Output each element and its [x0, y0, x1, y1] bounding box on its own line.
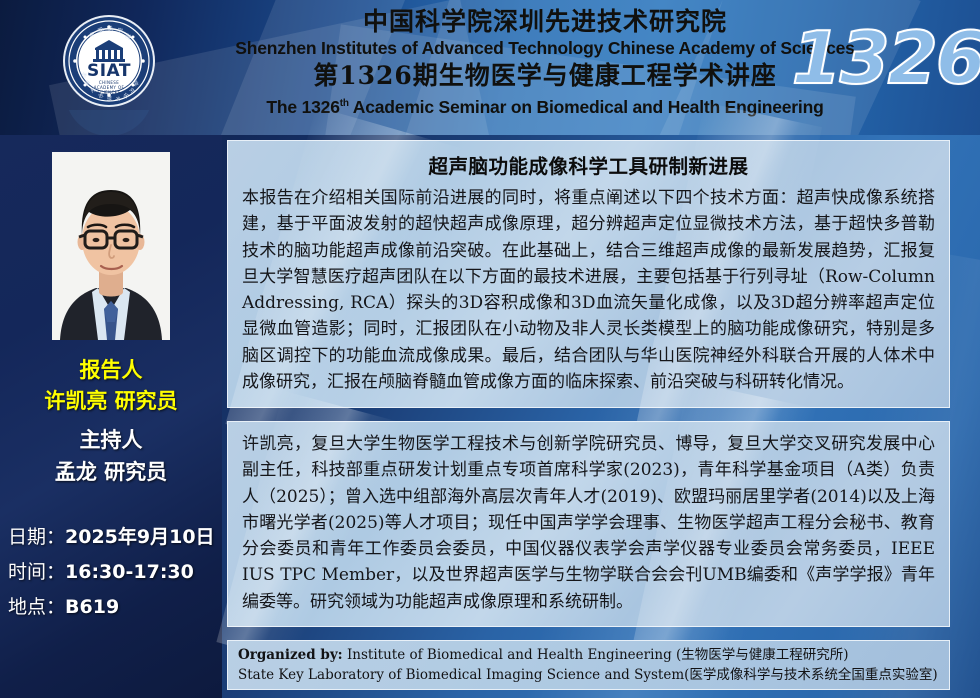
siat-logo-reflection: [62, 110, 156, 135]
event-meta-block: 日期：2025年9月10日 时间：16:30-17:30 地点：B619: [8, 520, 222, 625]
header-seminar-en-before: The 1326: [266, 97, 339, 117]
speaker-bio-panel: 许凯亮，复旦大学生物医学工程技术与创新学院研究员、博导，复旦大学交叉研究发展中心…: [227, 421, 950, 627]
abstract-panel: 超声脑功能成像科学工具研制新进展 本报告在介绍相关国际前沿进展的同时，将重点阐述…: [227, 140, 950, 408]
speaker-name: 许凯亮 研究员: [0, 385, 222, 417]
organized-by-label: Organized by:: [238, 647, 343, 663]
siat-logo-icon: SIAT CHINESE ACADEMY OF SCIENCES 中 国 科 学…: [62, 14, 156, 108]
organizer-line-1: Organized by: Institute of Biomedical an…: [238, 646, 949, 666]
event-date-value: 2025年9月10日: [65, 526, 215, 548]
event-date-label: 日期：: [8, 526, 65, 548]
organizer-inner: Organized by: Institute of Biomedical an…: [228, 641, 949, 685]
speaker-photo: [52, 152, 170, 340]
seminar-poster: SIAT CHINESE ACADEMY OF SCIENCES 中 国 科 学…: [0, 0, 980, 698]
event-time-label: 时间：: [8, 561, 65, 583]
svg-text:SIAT: SIAT: [87, 61, 131, 81]
event-date-row: 日期：2025年9月10日: [8, 520, 222, 555]
header-seminar-en-sup: th: [340, 98, 349, 109]
issue-number-watermark: 1326: [792, 16, 980, 100]
organizer-line-2: State Key Laboratory of Biomedical Imagi…: [238, 666, 949, 686]
sidebar-people-block: 报告人 许凯亮 研究员 主持人 孟龙 研究员: [0, 356, 222, 488]
talk-title: 超声脑功能成像科学工具研制新进展: [228, 141, 949, 179]
event-time-value: 16:30-17:30: [65, 561, 194, 583]
header-seminar-en-after: Academic Seminar on Biomedical and Healt…: [349, 97, 824, 117]
speaker-label: 报告人: [0, 356, 222, 385]
speaker-bio-text: 许凯亮，复旦大学生物医学工程技术与创新学院研究员、博导，复旦大学交叉研究发展中心…: [242, 431, 935, 615]
organizer-institute: Institute of Biomedical and Health Engin…: [343, 647, 849, 663]
abstract-text: 本报告在介绍相关国际前沿进展的同时，将重点阐述以下四个技术方面：超声快成像系统搭…: [242, 185, 935, 395]
host-name: 孟龙 研究员: [0, 456, 222, 488]
host-label: 主持人: [0, 425, 222, 456]
event-time-row: 时间：16:30-17:30: [8, 555, 222, 590]
organizer-panel: Organized by: Institute of Biomedical an…: [227, 640, 950, 690]
poster-header: SIAT CHINESE ACADEMY OF SCIENCES 中 国 科 学…: [0, 0, 980, 135]
event-venue-label: 地点：: [8, 596, 65, 618]
event-venue-row: 地点：B619: [8, 590, 222, 625]
event-venue-value: B619: [65, 596, 119, 618]
